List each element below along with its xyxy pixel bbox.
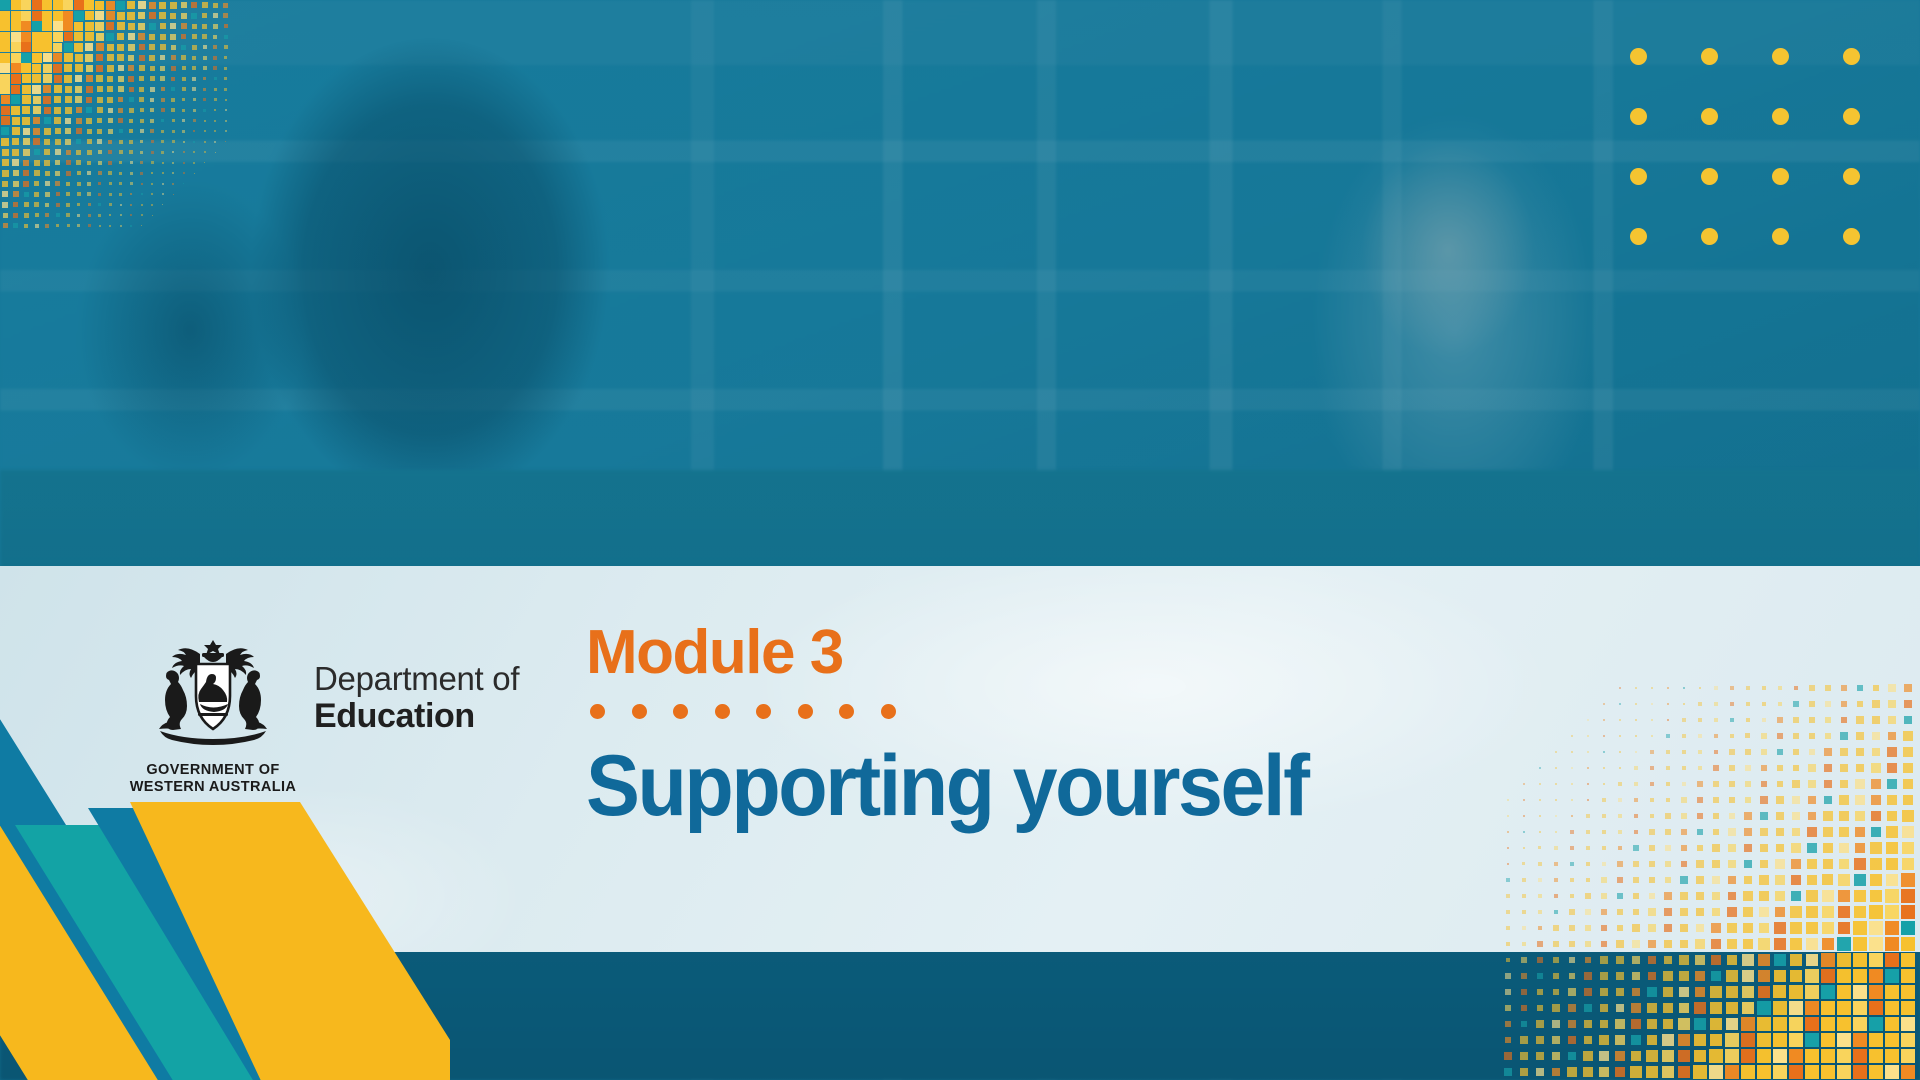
halftone-square xyxy=(87,161,91,165)
halftone-square xyxy=(0,63,10,73)
halftone-square xyxy=(224,67,227,70)
halftone-square xyxy=(1789,1033,1804,1048)
halftone-square xyxy=(42,11,52,21)
halftone-square xyxy=(1789,985,1802,998)
halftone-square xyxy=(32,64,41,73)
halftone-square xyxy=(1792,796,1800,804)
halftone-square xyxy=(1793,701,1798,706)
halftone-square xyxy=(1838,890,1850,902)
halftone-square xyxy=(1774,970,1787,983)
halftone-square xyxy=(1571,799,1574,802)
halftone-square xyxy=(162,172,164,174)
halftone-square xyxy=(1682,718,1685,721)
halftone-square xyxy=(107,54,114,61)
halftone-square xyxy=(127,1,135,9)
halftone-square xyxy=(149,44,155,50)
halftone-square xyxy=(1869,1017,1884,1032)
halftone-square xyxy=(1648,972,1657,981)
halftone-square xyxy=(129,108,134,113)
halftone-square xyxy=(1853,937,1867,951)
halftone-square xyxy=(1523,831,1525,833)
halftone-square xyxy=(223,3,228,8)
halftone-square xyxy=(0,32,10,42)
halftone-square xyxy=(1793,765,1800,772)
halftone-square xyxy=(97,118,102,123)
halftone-square xyxy=(1729,749,1734,754)
halftone-square xyxy=(1506,942,1510,946)
halftone-square xyxy=(1821,953,1834,966)
halftone-square xyxy=(1665,877,1672,884)
halftone-square xyxy=(161,130,164,133)
halftone-square xyxy=(21,21,31,31)
halftone-square xyxy=(1775,891,1785,901)
halftone-square xyxy=(1762,718,1767,723)
halftone-square xyxy=(1887,811,1898,822)
halftone-square xyxy=(1570,846,1574,850)
halftone-square xyxy=(1885,1049,1900,1064)
halftone-square xyxy=(151,151,154,154)
halftone-square xyxy=(1680,908,1688,916)
halftone-square xyxy=(1774,938,1786,950)
halftone-square xyxy=(1553,973,1559,979)
halftone-square xyxy=(1554,878,1558,882)
halftone-square xyxy=(1696,876,1704,884)
halftone-square xyxy=(1586,830,1590,834)
halftone-square xyxy=(1730,702,1734,706)
halftone-square xyxy=(1583,1067,1593,1077)
halftone-square xyxy=(1873,685,1880,692)
halftone-square xyxy=(1871,795,1881,805)
halftone-square xyxy=(1635,703,1637,705)
halftone-square xyxy=(1904,700,1912,708)
halftone-square xyxy=(192,87,196,91)
halftone-square xyxy=(162,204,163,205)
halftone-square xyxy=(1822,874,1833,885)
halftone-square xyxy=(1603,735,1605,737)
halftone-square xyxy=(1773,1065,1788,1080)
halftone-square xyxy=(1824,748,1831,755)
halftone-square xyxy=(1789,1065,1804,1080)
halftone-square xyxy=(1569,925,1575,931)
halftone-square xyxy=(1,106,10,115)
halftone-square xyxy=(24,202,29,207)
halftone-square xyxy=(1600,956,1607,963)
halftone-square xyxy=(1886,842,1898,854)
halftone-square xyxy=(141,193,143,195)
halftone-square xyxy=(1776,796,1783,803)
module-dot xyxy=(881,704,896,719)
department-text-block: Department of Education xyxy=(314,662,519,769)
halftone-square xyxy=(1901,1017,1916,1032)
halftone-square xyxy=(1587,783,1590,786)
halftone-square xyxy=(191,2,197,8)
halftone-square xyxy=(118,76,124,82)
halftone-square xyxy=(1679,955,1688,964)
halftone-square xyxy=(128,33,135,40)
halftone-square xyxy=(1615,1019,1624,1028)
matrix-dot xyxy=(1772,228,1789,245)
halftone-square xyxy=(1633,861,1639,867)
halftone-square xyxy=(1903,731,1912,740)
halftone-square xyxy=(1521,1021,1528,1028)
halftone-square xyxy=(1600,1004,1608,1012)
halftone-square xyxy=(1695,971,1705,981)
halftone-square xyxy=(1727,907,1736,916)
halftone-square xyxy=(141,225,142,226)
halftone-square xyxy=(1757,1065,1772,1080)
halftone-square xyxy=(1901,1065,1916,1080)
halftone-square xyxy=(0,74,10,84)
halftone-square xyxy=(1903,747,1913,757)
halftone-square xyxy=(213,24,218,29)
halftone-square xyxy=(86,107,92,113)
halftone-square xyxy=(128,76,134,82)
halftone-square xyxy=(1870,842,1881,853)
halftone-square xyxy=(119,140,123,144)
halftone-square xyxy=(150,66,155,71)
halftone-square xyxy=(54,85,62,93)
halftone-square xyxy=(86,97,92,103)
halftone-square xyxy=(140,119,144,123)
halftone-square xyxy=(119,129,123,133)
halftone-bottom-right-pattern xyxy=(1500,680,1920,1080)
halftone-square xyxy=(1585,941,1591,947)
halftone-square xyxy=(1523,783,1524,784)
halftone-square xyxy=(107,76,113,82)
halftone-square xyxy=(34,181,39,186)
halftone-square xyxy=(1730,718,1734,722)
halftone-square xyxy=(0,0,10,10)
halftone-square xyxy=(56,192,60,196)
halftone-square xyxy=(1901,969,1916,984)
halftone-square xyxy=(1790,970,1803,983)
halftone-square xyxy=(170,34,176,40)
halftone-square xyxy=(98,203,101,206)
halftone-square xyxy=(119,150,123,154)
halftone-square xyxy=(129,129,133,133)
halftone-square xyxy=(1665,861,1671,867)
halftone-square xyxy=(1619,687,1620,688)
halftone-square xyxy=(160,66,165,71)
halftone-square xyxy=(1,116,10,125)
halftone-square xyxy=(130,172,133,175)
halftone-square xyxy=(1681,829,1687,835)
halftone-square xyxy=(1680,940,1689,949)
halftone-square xyxy=(214,98,217,101)
halftone-square xyxy=(1727,955,1738,966)
halftone-square xyxy=(63,0,73,10)
halftone-square xyxy=(56,213,60,217)
halftone-square xyxy=(1711,971,1722,982)
halftone-square xyxy=(172,183,174,185)
halftone-square xyxy=(172,151,174,153)
halftone-square xyxy=(1682,782,1687,787)
halftone-square xyxy=(1742,970,1754,982)
halftone-square xyxy=(24,224,28,228)
halftone-square xyxy=(1521,957,1526,962)
halftone-square xyxy=(1617,925,1624,932)
halftone-square xyxy=(1697,829,1703,835)
halftone-square xyxy=(45,192,50,197)
halftone-square xyxy=(1777,733,1783,739)
halftone-square xyxy=(23,138,30,145)
halftone-square xyxy=(1664,892,1671,899)
halftone-square xyxy=(171,66,176,71)
halftone-square xyxy=(1792,780,1799,787)
halftone-square xyxy=(1727,923,1737,933)
halftone-square xyxy=(1853,1065,1868,1080)
halftone-square xyxy=(1743,923,1753,933)
halftone-square xyxy=(1647,1019,1657,1029)
halftone-square xyxy=(77,171,81,175)
halftone-square xyxy=(106,1,115,10)
halftone-square xyxy=(1632,988,1641,997)
halftone-square xyxy=(223,13,228,18)
halftone-square xyxy=(108,171,112,175)
matrix-dot xyxy=(1630,108,1647,125)
halftone-square xyxy=(34,149,40,155)
halftone-square xyxy=(1808,764,1815,771)
halftone-square xyxy=(225,120,227,122)
halftone-square xyxy=(183,151,185,153)
halftone-square xyxy=(1695,955,1705,965)
halftone-square xyxy=(1742,954,1753,965)
halftone-square xyxy=(96,43,104,51)
halftone-square xyxy=(181,34,186,39)
halftone-square xyxy=(109,182,112,185)
halftone-square xyxy=(13,191,19,197)
halftone-square xyxy=(203,45,207,49)
halftone-square xyxy=(1809,685,1814,690)
halftone-square xyxy=(1886,874,1899,887)
halftone-square xyxy=(1726,1002,1738,1014)
halftone-square xyxy=(1536,1036,1544,1044)
halftone-square xyxy=(65,107,72,114)
halftone-square xyxy=(1537,941,1542,946)
halftone-square xyxy=(32,53,42,63)
halftone-square xyxy=(13,213,18,218)
halftone-square xyxy=(1554,910,1559,915)
halftone-square xyxy=(1745,781,1751,787)
halftone-square xyxy=(192,45,197,50)
halftone-square xyxy=(1712,844,1719,851)
halftone-square xyxy=(1901,953,1916,968)
halftone-square xyxy=(160,23,166,29)
halftone-square xyxy=(119,182,122,185)
halftone-square xyxy=(1773,1001,1787,1015)
halftone-square xyxy=(76,160,81,165)
halftone-square xyxy=(87,192,91,196)
halftone-square xyxy=(1617,877,1623,883)
halftone-square xyxy=(1762,686,1766,690)
halftone-square xyxy=(1697,797,1702,802)
department-line-2: Education xyxy=(314,697,519,735)
halftone-square xyxy=(1554,862,1558,866)
halftone-square xyxy=(1871,763,1880,772)
halftone-square xyxy=(140,140,144,144)
halftone-square xyxy=(1790,906,1801,917)
halftone-square xyxy=(1507,847,1509,849)
halftone-square xyxy=(1632,924,1639,931)
halftone-square xyxy=(204,130,206,132)
halftone-square xyxy=(1857,685,1863,691)
halftone-square xyxy=(1713,813,1719,819)
halftone-square xyxy=(1681,861,1688,868)
halftone-square xyxy=(1696,892,1704,900)
halftone-square xyxy=(1762,702,1767,707)
halftone-square xyxy=(1758,970,1770,982)
halftone-square xyxy=(129,97,134,102)
halftone-square xyxy=(1805,1017,1820,1032)
halftone-square xyxy=(53,21,63,31)
halftone-square xyxy=(1854,906,1867,919)
halftone-square xyxy=(1713,797,1719,803)
halftone-square xyxy=(76,128,82,134)
halftone-square xyxy=(141,204,143,206)
halftone-square xyxy=(33,128,40,135)
halftone-square xyxy=(203,56,207,60)
halftone-square xyxy=(44,139,50,145)
halftone-square xyxy=(1587,767,1589,769)
halftone-square xyxy=(77,203,81,207)
halftone-square xyxy=(76,107,82,113)
halftone-square xyxy=(1680,876,1687,883)
halftone-square xyxy=(1809,701,1815,707)
halftone-square xyxy=(53,11,63,21)
halftone-square xyxy=(1742,1002,1755,1015)
halftone-square xyxy=(106,22,114,30)
halftone-square xyxy=(1853,1001,1868,1016)
halftone-square xyxy=(1662,1066,1674,1078)
halftone-square xyxy=(107,65,114,72)
halftone-square xyxy=(1569,909,1574,914)
halftone-square xyxy=(1840,732,1847,739)
halftone-square xyxy=(1792,812,1800,820)
halftone-square xyxy=(182,87,186,91)
halftone-square xyxy=(1682,766,1686,770)
halftone-square xyxy=(1791,875,1801,885)
halftone-square xyxy=(160,76,165,81)
halftone-square xyxy=(1778,686,1783,691)
halftone-square xyxy=(1634,830,1639,835)
halftone-square xyxy=(1602,846,1606,850)
halftone-square xyxy=(1837,1065,1852,1080)
halftone-square xyxy=(88,214,91,217)
halftone-square xyxy=(74,32,83,41)
halftone-square xyxy=(42,0,52,10)
halftone-square xyxy=(1506,926,1510,930)
halftone-square xyxy=(118,86,124,92)
halftone-square xyxy=(1632,972,1640,980)
halftone-square xyxy=(1885,1065,1900,1080)
halftone-square xyxy=(55,181,60,186)
halftone-square xyxy=(96,65,103,72)
halftone-square xyxy=(42,21,52,31)
halftone-square xyxy=(12,117,20,125)
halftone-square xyxy=(1871,827,1882,838)
halftone-square xyxy=(1555,767,1557,769)
halftone-square xyxy=(1872,700,1879,707)
halftone-square xyxy=(1758,986,1771,999)
halftone-square xyxy=(1663,1019,1674,1030)
halftone-square xyxy=(1743,891,1752,900)
halftone-square xyxy=(1793,717,1799,723)
halftone-square xyxy=(55,139,61,145)
halftone-square xyxy=(2,170,9,177)
halftone-square xyxy=(203,77,207,81)
halftone-square xyxy=(45,224,49,228)
halftone-square xyxy=(35,224,39,228)
halftone-square xyxy=(1869,1065,1884,1080)
halftone-square xyxy=(1698,766,1703,771)
halftone-square xyxy=(1789,1017,1803,1031)
halftone-square xyxy=(54,107,61,114)
halftone-square xyxy=(1806,938,1818,950)
halftone-square xyxy=(108,118,113,123)
halftone-square xyxy=(1649,893,1656,900)
halftone-square xyxy=(1778,702,1783,707)
halftone-square xyxy=(1903,763,1913,773)
halftone-square xyxy=(1633,877,1639,883)
halftone-square xyxy=(1711,939,1721,949)
halftone-square xyxy=(1789,1001,1803,1015)
halftone-top-left-pattern xyxy=(0,0,230,235)
halftone-square xyxy=(85,11,94,20)
halftone-square xyxy=(23,160,29,166)
halftone-square xyxy=(1726,1018,1739,1031)
halftone-square xyxy=(117,33,124,40)
halftone-square xyxy=(1618,814,1622,818)
halftone-square xyxy=(1696,908,1704,916)
halftone-square xyxy=(74,22,83,31)
halftone-square xyxy=(170,23,176,29)
halftone-square xyxy=(1601,925,1607,931)
halftone-square xyxy=(202,24,207,29)
halftone-square xyxy=(66,203,70,207)
halftone-square xyxy=(1872,716,1880,724)
halftone-square xyxy=(1805,969,1818,982)
module-dot xyxy=(590,704,605,719)
halftone-square xyxy=(55,171,60,176)
halftone-square xyxy=(150,108,154,112)
halftone-square xyxy=(1506,894,1509,897)
halftone-square xyxy=(1869,969,1884,984)
halftone-square xyxy=(1680,892,1688,900)
halftone-square xyxy=(97,129,102,134)
halftone-square xyxy=(1869,905,1882,918)
halftone-square xyxy=(1824,780,1832,788)
halftone-square xyxy=(1807,843,1817,853)
halftone-square xyxy=(151,140,154,143)
halftone-square xyxy=(32,32,42,42)
halftone-square xyxy=(1741,1033,1755,1047)
halftone-square xyxy=(1773,985,1786,998)
halftone-square xyxy=(1728,892,1737,901)
halftone-square xyxy=(117,12,125,20)
halftone-square xyxy=(1825,685,1831,691)
halftone-square xyxy=(192,56,196,60)
halftone-square xyxy=(1505,1037,1512,1044)
halftone-square xyxy=(1697,781,1702,786)
halftone-square xyxy=(1746,718,1751,723)
halftone-square xyxy=(1887,747,1896,756)
halftone-square xyxy=(1758,954,1770,966)
halftone-square xyxy=(1823,811,1832,820)
halftone-square xyxy=(1632,940,1640,948)
halftone-square xyxy=(1761,781,1768,788)
halftone-square xyxy=(1618,798,1622,802)
halftone-square xyxy=(149,2,156,9)
